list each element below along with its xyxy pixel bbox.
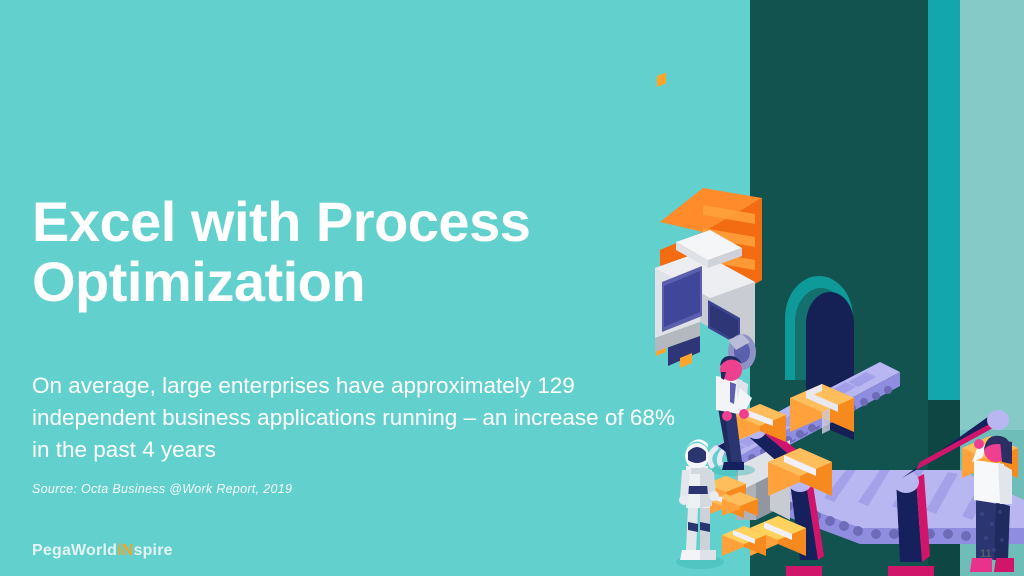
logo-accent: iN (117, 542, 133, 559)
presentation-slide: Excel with Process Optimization On avera… (0, 0, 1024, 576)
pegaworld-inspire-logo: PegaWorldiNspire (32, 542, 173, 560)
slide-title: Excel with Process Optimization (32, 192, 652, 313)
pillar-shadow (928, 400, 960, 576)
slide-body-text: On average, large enterprises have appro… (32, 370, 682, 466)
parcel-box (706, 476, 746, 502)
floor-wedge (960, 430, 1024, 576)
worker-left (711, 356, 755, 476)
parcel-box (700, 488, 744, 518)
page-number: 11 (980, 548, 992, 560)
humanoid-robot (676, 439, 724, 569)
logo-part-one: PegaWorld (32, 542, 117, 559)
source-citation: Source: Octa Business @Work Report, 2019 (32, 482, 292, 496)
logo-part-two: spire (133, 542, 172, 559)
background-band-dark-teal (750, 0, 928, 576)
delivery-truck-icon (655, 73, 762, 370)
